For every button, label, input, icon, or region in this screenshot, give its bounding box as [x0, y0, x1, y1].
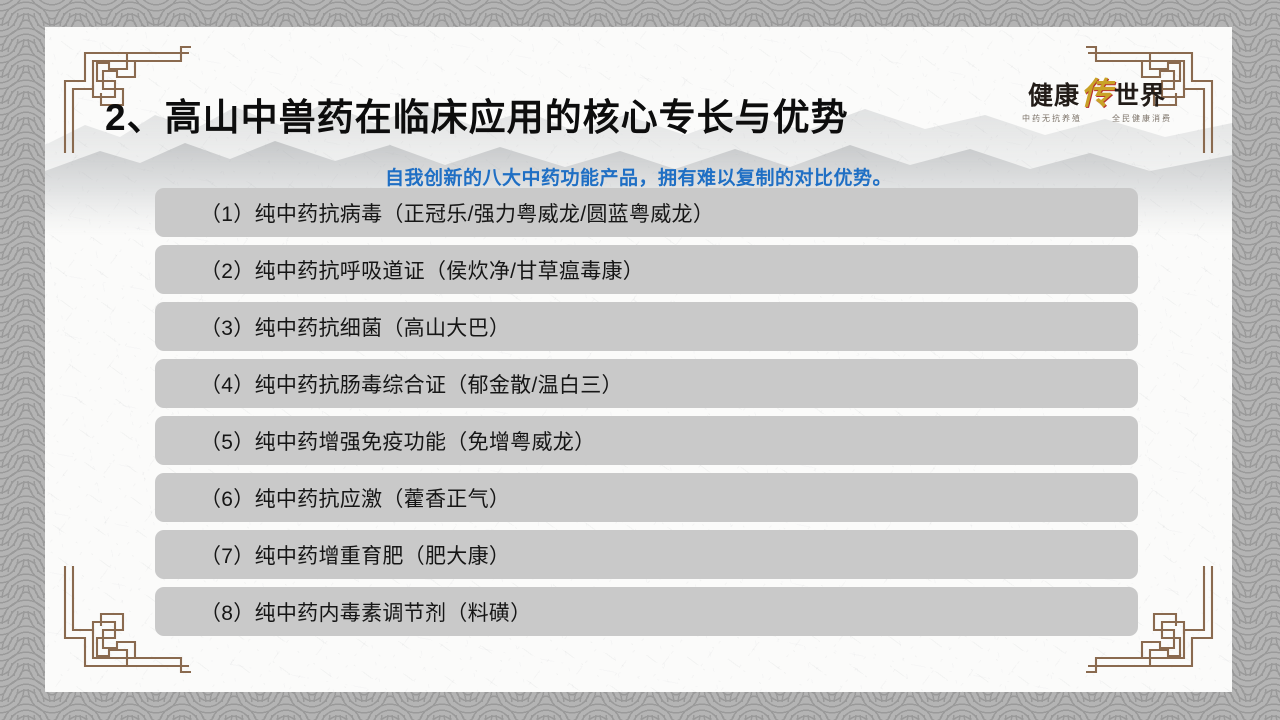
- brand-logo-tagline: 中药无抗养殖全民健康消费: [1007, 113, 1187, 124]
- brand-logo-name: 健康传世界: [1007, 79, 1187, 111]
- brand-logo-brush-char: 传: [1080, 76, 1114, 112]
- list-item: （7）纯中药增重育肥（肥大康）: [155, 530, 1138, 579]
- list-item: （8）纯中药内毒素调节剂（料磺）: [155, 587, 1138, 636]
- brand-tagline-left: 中药无抗养殖: [1022, 113, 1082, 124]
- brand-logo-right: 世界: [1114, 82, 1166, 110]
- brand-logo-left: 健康: [1028, 82, 1080, 110]
- slide-header: 2、高山中兽药在临床应用的核心专长与优势 健康传世界 中药无抗养殖全民健康消费: [45, 27, 1232, 157]
- list-item: （4）纯中药抗肠毒综合证（郁金散/温白三）: [155, 359, 1138, 408]
- list-item: （6）纯中药抗应激（藿香正气）: [155, 473, 1138, 522]
- list-item: （1）纯中药抗病毒（正冠乐/强力粤威龙/圆蓝粤威龙）: [155, 188, 1138, 237]
- brand-tagline-right: 全民健康消费: [1112, 113, 1172, 124]
- list-item: （3）纯中药抗细菌（高山大巴）: [155, 302, 1138, 351]
- slide-subtitle: 自我创新的八大中药功能产品，拥有难以复制的对比优势。: [45, 163, 1232, 190]
- list-item: （2）纯中药抗呼吸道证（侯炊净/甘草瘟毒康）: [155, 245, 1138, 294]
- list-item: （5）纯中药增强免疫功能（免增粤威龙）: [155, 416, 1138, 465]
- brand-logo: 健康传世界 中药无抗养殖全民健康消费: [1007, 79, 1187, 141]
- slide-stage: 2、高山中兽药在临床应用的核心专长与优势 健康传世界 中药无抗养殖全民健康消费 …: [0, 0, 1280, 720]
- product-list: （1）纯中药抗病毒（正冠乐/强力粤威龙/圆蓝粤威龙） （2）纯中药抗呼吸道证（侯…: [155, 188, 1138, 644]
- page-title: 2、高山中兽药在临床应用的核心专长与优势: [105, 87, 849, 141]
- slide-panel: 2、高山中兽药在临床应用的核心专长与优势 健康传世界 中药无抗养殖全民健康消费 …: [45, 27, 1232, 692]
